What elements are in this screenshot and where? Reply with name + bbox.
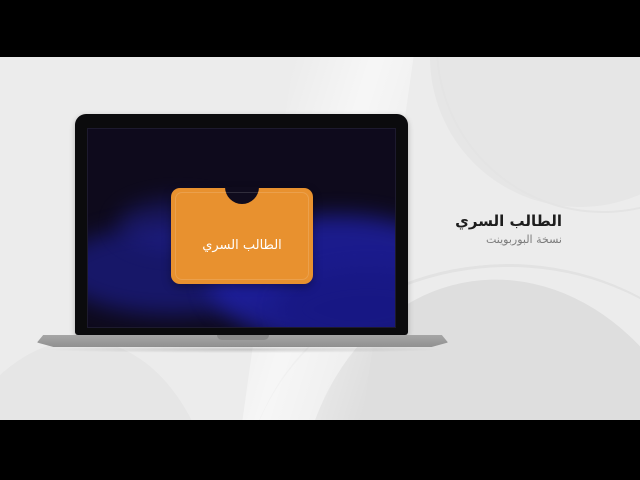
letterbox-bar-bottom <box>0 420 640 480</box>
decorative-arc-outline-top-right-icon <box>436 57 640 213</box>
slide-canvas: الطالب السري الطالب السري نسخة البوربوين… <box>0 57 640 420</box>
page-title: الطالب السري <box>322 212 562 230</box>
card-notch-icon <box>225 187 259 204</box>
title-text-block: الطالب السري نسخة البوربوينت <box>322 212 562 247</box>
card-inner-border <box>175 192 309 280</box>
card-title: الطالب السري <box>171 238 313 253</box>
letterbox-bar-top <box>0 0 640 57</box>
decorative-arc-top-right-icon <box>430 57 640 207</box>
video-frame: الطالب السري الطالب السري نسخة البوربوين… <box>0 0 640 480</box>
laptop-base-notch-icon <box>217 335 269 340</box>
page-subtitle: نسخة البوربوينت <box>322 233 562 247</box>
laptop-drop-shadow <box>47 346 439 353</box>
slide-card: الطالب السري <box>171 188 313 284</box>
